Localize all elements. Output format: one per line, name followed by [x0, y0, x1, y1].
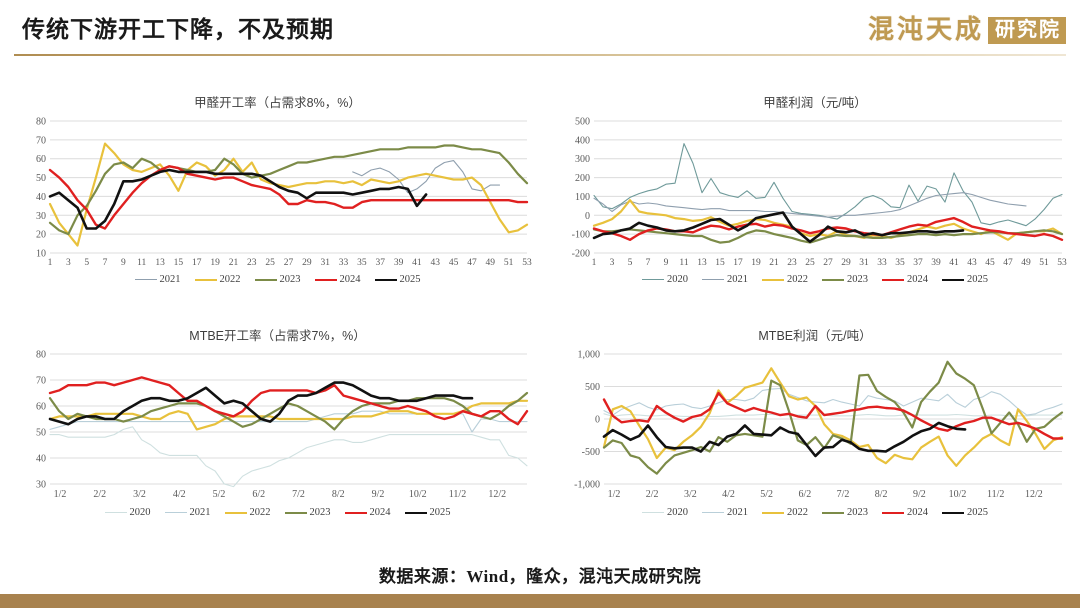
x-axis-tick-label: 39 [394, 258, 404, 268]
x-axis-tick-label: 10/2 [949, 489, 967, 500]
x-axis-tick-label: 9/2 [372, 489, 385, 500]
legend-item-2023[interactable]: 2023 [255, 274, 301, 285]
x-axis-tick-label: 1/2 [608, 489, 621, 500]
x-axis-tick-label: 5/2 [213, 489, 226, 500]
x-axis-tick-label: 7 [103, 258, 108, 268]
chart-svg: -1,000-50005001,0001/22/23/24/25/26/27/2… [560, 346, 1070, 506]
legend-item-2022[interactable]: 2022 [225, 507, 271, 518]
legend-item-2021[interactable]: 2021 [702, 507, 748, 518]
x-axis-tick-label: 49 [1021, 258, 1031, 268]
x-axis-tick-label: 21 [769, 258, 779, 268]
x-axis-tick-label: 1/2 [54, 489, 67, 500]
y-axis-tick-label: -500 [582, 447, 600, 458]
legend-item-2020[interactable]: 2020 [105, 507, 151, 518]
x-axis-tick-label: 27 [284, 258, 294, 268]
x-axis-tick-label: 45 [449, 258, 459, 268]
x-axis-tick-label: 25 [265, 258, 275, 268]
x-axis-tick-label: 41 [412, 258, 422, 268]
x-axis-tick-label: 3 [66, 258, 71, 268]
legend-item-2025[interactable]: 2025 [942, 507, 988, 518]
chart-title: MTBE开工率（占需求7%，%） [20, 325, 535, 344]
x-axis-tick-label: 49 [486, 258, 496, 268]
legend-swatch-2020 [105, 512, 127, 513]
x-axis-tick-label: 15 [174, 258, 184, 268]
series-line-2024 [50, 166, 527, 228]
x-axis-tick-label: 3/2 [133, 489, 146, 500]
chart-mtbe-operating-rate: MTBE开工率（占需求7%，%） 3040506070801/22/23/24/… [20, 325, 535, 518]
x-axis-tick-label: 6/2 [252, 489, 265, 500]
legend-label: 2024 [370, 507, 391, 518]
legend-swatch-2021 [135, 279, 157, 280]
x-axis-tick-label: 33 [877, 258, 887, 268]
legend-swatch-2024 [345, 512, 367, 514]
legend-label: 2020 [667, 274, 688, 285]
legend-swatch-2022 [195, 279, 217, 281]
page-title: 传统下游开工下降，不及预期 [22, 10, 334, 44]
y-axis-tick-label: 500 [575, 117, 590, 128]
logo-institute-badge: 研究院 [988, 17, 1066, 44]
footer-bar [0, 594, 1080, 608]
legend-swatch-2022 [225, 512, 247, 514]
x-axis-tick-label: 21 [229, 258, 239, 268]
logo-wordmark: 混沌天成 [868, 17, 984, 43]
x-axis-tick-label: 19 [210, 258, 220, 268]
x-axis-tick-label: 37 [913, 258, 923, 268]
legend-swatch-2023 [285, 512, 307, 514]
series-line-2025 [50, 383, 472, 425]
legend-label: 2023 [847, 274, 868, 285]
y-axis-tick-label: 60 [36, 154, 46, 165]
legend-label: 2021 [727, 507, 748, 518]
chart-methanal-operating-rate: 甲醛开工率（占需求8%，%） 1020304050607080135791113… [20, 92, 535, 285]
y-axis-tick-label: 400 [575, 135, 590, 146]
legend-item-2024[interactable]: 2024 [882, 274, 928, 285]
legend-label: 2025 [967, 274, 988, 285]
x-axis-tick-label: 5 [628, 258, 633, 268]
y-axis-tick-label: 80 [36, 117, 46, 128]
legend-label: 2025 [430, 507, 451, 518]
x-axis-tick-label: 9 [664, 258, 669, 268]
legend-swatch-2021 [702, 279, 724, 280]
x-axis-tick-label: 3/2 [684, 489, 697, 500]
y-axis-tick-label: 40 [36, 192, 46, 203]
legend-label: 2022 [787, 507, 808, 518]
x-axis-tick-label: 53 [522, 258, 532, 268]
legend-item-2021[interactable]: 2021 [702, 274, 748, 285]
chart-svg: -200-10001002003004005001357911131517192… [560, 113, 1070, 273]
x-axis-tick-label: 33 [339, 258, 349, 268]
x-axis-tick-label: 5 [84, 258, 89, 268]
y-axis-tick-label: 30 [36, 480, 46, 491]
legend-label: 2023 [847, 507, 868, 518]
x-axis-tick-label: 23 [787, 258, 797, 268]
legend-swatch-2024 [882, 512, 904, 514]
legend-swatch-2023 [822, 279, 844, 281]
x-axis-tick-label: 39 [931, 258, 941, 268]
chart-svg: 1020304050607080135791113151719212325272… [20, 113, 535, 273]
chart-title: 甲醛开工率（占需求8%，%） [20, 92, 535, 111]
x-axis-tick-label: 35 [357, 258, 367, 268]
x-axis-tick-label: 41 [949, 258, 959, 268]
y-axis-tick-label: 10 [36, 249, 46, 260]
x-axis-tick-label: 7/2 [837, 489, 850, 500]
x-axis-tick-label: 43 [431, 258, 441, 268]
chart-plot-area: 3040506070801/22/23/24/25/26/27/28/29/21… [20, 346, 535, 506]
x-axis-tick-label: 11/2 [449, 489, 466, 500]
y-axis-tick-label: 200 [575, 173, 590, 184]
y-axis-tick-label: 50 [36, 428, 46, 439]
x-axis-tick-label: 11/2 [987, 489, 1004, 500]
x-axis-tick-label: 4/2 [173, 489, 186, 500]
y-axis-tick-label: 1,000 [578, 350, 601, 361]
y-axis-tick-label: 500 [585, 382, 600, 393]
legend-label: 2023 [310, 507, 331, 518]
y-axis-tick-label: 100 [575, 192, 590, 203]
legend-swatch-2023 [255, 279, 277, 281]
legend-label: 2023 [280, 274, 301, 285]
x-axis-tick-label: 15 [715, 258, 725, 268]
legend-item-2021[interactable]: 2021 [135, 274, 181, 285]
chart-legend: 20212022202320242025 [20, 274, 535, 285]
legend-swatch-2021 [165, 512, 187, 513]
company-logo: 混沌天成 研究院 [868, 12, 1066, 48]
y-axis-tick-label: -100 [572, 230, 590, 241]
y-axis-tick-label: 80 [36, 350, 46, 361]
legend-label: 2021 [190, 507, 211, 518]
x-axis-tick-label: 51 [1039, 258, 1049, 268]
legend-item-2023[interactable]: 2023 [822, 507, 868, 518]
legend-swatch-2025 [405, 512, 427, 514]
legend-label: 2025 [400, 274, 421, 285]
legend-item-2020[interactable]: 2020 [642, 274, 688, 285]
page-header: 传统下游开工下降，不及预期 混沌天成 研究院 [0, 0, 1080, 60]
legend-swatch-2025 [942, 279, 964, 281]
y-axis-tick-label: 70 [36, 135, 46, 146]
legend-label: 2022 [250, 507, 271, 518]
x-axis-tick-label: 31 [859, 258, 869, 268]
legend-swatch-2022 [762, 512, 784, 514]
x-axis-tick-label: 53 [1057, 258, 1067, 268]
chart-plot-area: -1,000-50005001,0001/22/23/24/25/26/27/2… [560, 346, 1070, 506]
x-axis-tick-label: 5/2 [760, 489, 773, 500]
x-axis-tick-label: 29 [841, 258, 851, 268]
legend-item-2020[interactable]: 2020 [642, 507, 688, 518]
x-axis-tick-label: 27 [823, 258, 833, 268]
y-axis-tick-label: 300 [575, 154, 590, 165]
x-axis-tick-label: 13 [155, 258, 165, 268]
legend-swatch-2020 [642, 279, 664, 280]
x-axis-tick-label: 45 [985, 258, 995, 268]
legend-item-2024[interactable]: 2024 [345, 507, 391, 518]
legend-swatch-2023 [822, 512, 844, 514]
chart-plot-area: 1020304050607080135791113151719212325272… [20, 113, 535, 273]
legend-item-2022[interactable]: 2022 [762, 274, 808, 285]
x-axis-tick-label: 13 [697, 258, 707, 268]
legend-label: 2022 [787, 274, 808, 285]
legend-swatch-2025 [375, 279, 397, 281]
legend-label: 2020 [667, 507, 688, 518]
legend-item-2023[interactable]: 2023 [822, 274, 868, 285]
x-axis-tick-label: 17 [733, 258, 743, 268]
x-axis-tick-label: 17 [192, 258, 202, 268]
x-axis-tick-label: 11 [679, 258, 688, 268]
x-axis-tick-label: 1 [592, 258, 597, 268]
x-axis-tick-label: 47 [1003, 258, 1013, 268]
legend-swatch-2025 [942, 512, 964, 514]
legend-item-2021[interactable]: 2021 [165, 507, 211, 518]
series-line-2021 [604, 389, 1062, 416]
x-axis-tick-label: 12/2 [1025, 489, 1043, 500]
x-axis-tick-label: 29 [302, 258, 312, 268]
legend-label: 2022 [220, 274, 241, 285]
chart-plot-area: -200-10001002003004005001357911131517192… [560, 113, 1070, 273]
legend-swatch-2021 [702, 512, 724, 513]
series-line-2020 [50, 427, 527, 487]
chart-methanal-profit: 甲醛利润（元/吨） -200-1000100200300400500135791… [560, 92, 1070, 285]
legend-label: 2021 [727, 274, 748, 285]
legend-label: 2024 [907, 507, 928, 518]
y-axis-tick-label: 40 [36, 454, 46, 465]
legend-item-2024[interactable]: 2024 [315, 274, 361, 285]
x-axis-tick-label: 6/2 [798, 489, 811, 500]
source-note: 数据来源：Wind，隆众，混沌天成研究院 [0, 562, 1080, 587]
chart-legend: 202020212022202320242025 [560, 274, 1070, 285]
legend-label: 2024 [907, 274, 928, 285]
x-axis-tick-label: 10/2 [409, 489, 427, 500]
x-axis-tick-label: 7/2 [292, 489, 305, 500]
y-axis-tick-label: 50 [36, 173, 46, 184]
legend-item-2022[interactable]: 2022 [762, 507, 808, 518]
x-axis-tick-label: 3 [610, 258, 615, 268]
chart-title: 甲醛利润（元/吨） [560, 92, 1070, 111]
legend-swatch-2020 [642, 512, 664, 513]
x-axis-tick-label: 47 [467, 258, 477, 268]
header-divider [14, 54, 1066, 56]
x-axis-tick-label: 8/2 [875, 489, 888, 500]
y-axis-tick-label: 20 [36, 230, 46, 241]
x-axis-tick-label: 51 [504, 258, 514, 268]
legend-item-2024[interactable]: 2024 [882, 507, 928, 518]
legend-item-2023[interactable]: 2023 [285, 507, 331, 518]
chart-legend: 202020212022202320242025 [20, 507, 535, 518]
legend-label: 2024 [340, 274, 361, 285]
x-axis-tick-label: 43 [967, 258, 977, 268]
x-axis-tick-label: 2/2 [93, 489, 106, 500]
chart-mtbe-profit: MTBE利润（元/吨） -1,000-50005001,0001/22/23/2… [560, 325, 1070, 518]
chart-legend: 202020212022202320242025 [560, 507, 1070, 518]
legend-item-2025[interactable]: 2025 [405, 507, 451, 518]
y-axis-tick-label: 70 [36, 376, 46, 387]
legend-item-2022[interactable]: 2022 [195, 274, 241, 285]
legend-item-2025[interactable]: 2025 [375, 274, 421, 285]
y-axis-tick-label: 0 [595, 415, 600, 426]
legend-swatch-2024 [882, 279, 904, 281]
legend-item-2025[interactable]: 2025 [942, 274, 988, 285]
legend-label: 2025 [967, 507, 988, 518]
series-line-2021 [353, 161, 500, 193]
y-axis-tick-label: -200 [572, 249, 590, 260]
x-axis-tick-label: 11 [137, 258, 146, 268]
x-axis-tick-label: 9/2 [913, 489, 926, 500]
y-axis-tick-label: 60 [36, 402, 46, 413]
x-axis-tick-label: 2/2 [646, 489, 659, 500]
x-axis-tick-label: 19 [751, 258, 761, 268]
y-axis-tick-label: 0 [585, 211, 590, 222]
legend-swatch-2024 [315, 279, 337, 281]
x-axis-tick-label: 35 [895, 258, 905, 268]
chart-svg: 3040506070801/22/23/24/25/26/27/28/29/21… [20, 346, 535, 506]
x-axis-tick-label: 31 [320, 258, 330, 268]
legend-label: 2020 [130, 507, 151, 518]
legend-label: 2021 [160, 274, 181, 285]
x-axis-tick-label: 23 [247, 258, 257, 268]
x-axis-tick-label: 7 [646, 258, 651, 268]
x-axis-tick-label: 37 [375, 258, 385, 268]
chart-title: MTBE利润（元/吨） [560, 325, 1070, 344]
x-axis-tick-label: 1 [48, 258, 53, 268]
x-axis-tick-label: 12/2 [488, 489, 506, 500]
x-axis-tick-label: 4/2 [722, 489, 735, 500]
y-axis-tick-label: 30 [36, 211, 46, 222]
x-axis-tick-label: 8/2 [332, 489, 345, 500]
x-axis-tick-label: 9 [121, 258, 126, 268]
x-axis-tick-label: 25 [805, 258, 815, 268]
legend-swatch-2022 [762, 279, 784, 281]
series-line-2020 [594, 144, 1062, 226]
y-axis-tick-label: -1,000 [574, 480, 600, 491]
